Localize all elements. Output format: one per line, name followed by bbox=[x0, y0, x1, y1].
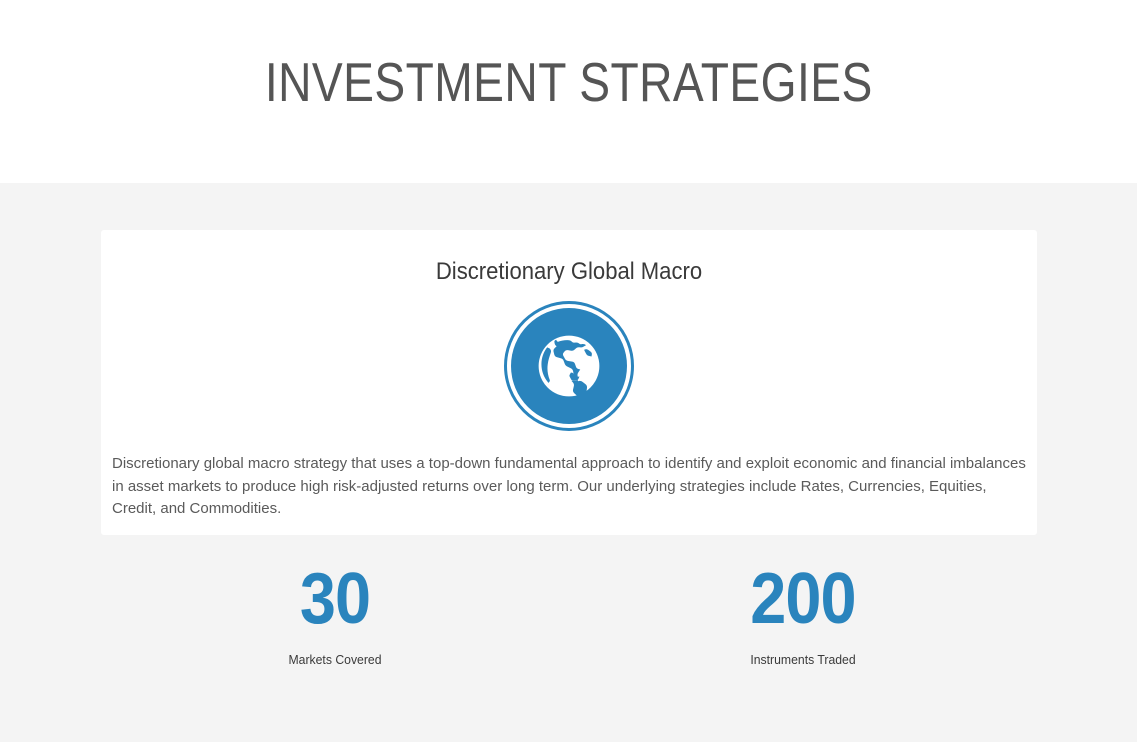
strategy-description: Discretionary global macro strategy that… bbox=[111, 453, 1027, 521]
stat-instruments-traded: 200 Instruments Traded bbox=[569, 549, 1037, 668]
stat-label: Markets Covered bbox=[115, 652, 555, 668]
stat-markets-covered: 30 Markets Covered bbox=[101, 549, 569, 668]
strategy-card-title: Discretionary Global Macro bbox=[148, 258, 991, 287]
icon-disc bbox=[511, 308, 627, 424]
globe-icon bbox=[533, 330, 605, 402]
stat-label: Instruments Traded bbox=[583, 652, 1023, 668]
page-root: INVESTMENT STRATEGIES Discretionary Glob… bbox=[0, 0, 1137, 742]
stats-row: 30 Markets Covered 200 Instruments Trade… bbox=[101, 549, 1037, 668]
page-title: INVESTMENT STRATEGIES bbox=[265, 55, 873, 110]
stat-value: 30 bbox=[124, 563, 545, 635]
strategy-card: Discretionary Global Macro bbox=[101, 230, 1037, 535]
icon-outer-ring bbox=[504, 301, 634, 431]
strategy-icon-wrapper bbox=[111, 301, 1027, 431]
stat-value: 200 bbox=[592, 563, 1013, 635]
strategies-section: Discretionary Global Macro bbox=[0, 183, 1137, 742]
page-hero: INVESTMENT STRATEGIES bbox=[0, 0, 1137, 183]
